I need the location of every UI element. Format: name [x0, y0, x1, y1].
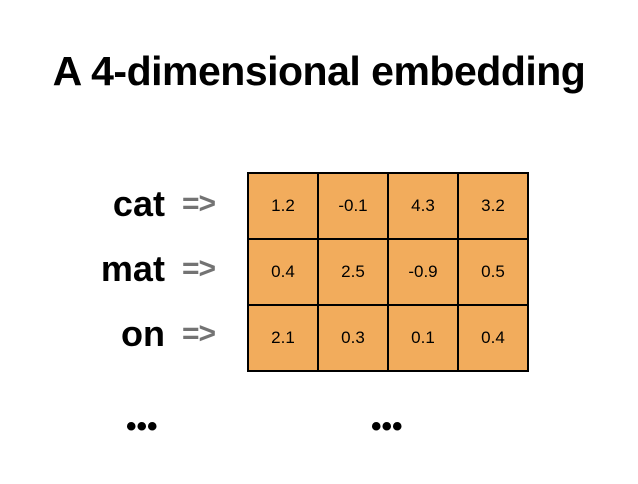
continuation-ellipsis-left: ••• [126, 412, 158, 442]
continuation-ellipsis-right: ••• [371, 412, 403, 442]
word-label-column: cat => mat => on => [0, 172, 243, 366]
embedding-cell: -0.9 [388, 239, 458, 305]
embedding-cell: 1.2 [248, 173, 318, 239]
embedding-cell: 0.3 [318, 305, 388, 371]
embedding-cell: 0.4 [458, 305, 528, 371]
embedding-cell: 0.5 [458, 239, 528, 305]
word-label-mat: mat [101, 249, 165, 289]
slide-canvas: A 4-dimensional embedding cat => mat => … [0, 0, 638, 484]
table-row: 2.1 0.3 0.1 0.4 [248, 305, 528, 371]
embedding-cell: 3.2 [458, 173, 528, 239]
page-title: A 4-dimensional embedding [0, 48, 638, 94]
word-label-on: on [121, 314, 165, 354]
embedding-cell: 4.3 [388, 173, 458, 239]
embedding-cell: 2.1 [248, 305, 318, 371]
word-label-row-on: on => [0, 301, 243, 366]
table-row: 1.2 -0.1 4.3 3.2 [248, 173, 528, 239]
embedding-table: 1.2 -0.1 4.3 3.2 0.4 2.5 -0.9 0.5 2.1 0.… [247, 172, 529, 372]
embedding-cell: 2.5 [318, 239, 388, 305]
word-label-row-mat: mat => [0, 237, 243, 302]
word-label-row-cat: cat => [0, 172, 243, 237]
embedding-cell: 0.4 [248, 239, 318, 305]
embedding-cell: 0.1 [388, 305, 458, 371]
maps-to-arrow-icon: => [182, 314, 215, 354]
maps-to-arrow-icon: => [182, 184, 215, 224]
embedding-cell: -0.1 [318, 173, 388, 239]
word-label-cat: cat [113, 184, 165, 224]
maps-to-arrow-icon: => [182, 249, 215, 289]
table-row: 0.4 2.5 -0.9 0.5 [248, 239, 528, 305]
